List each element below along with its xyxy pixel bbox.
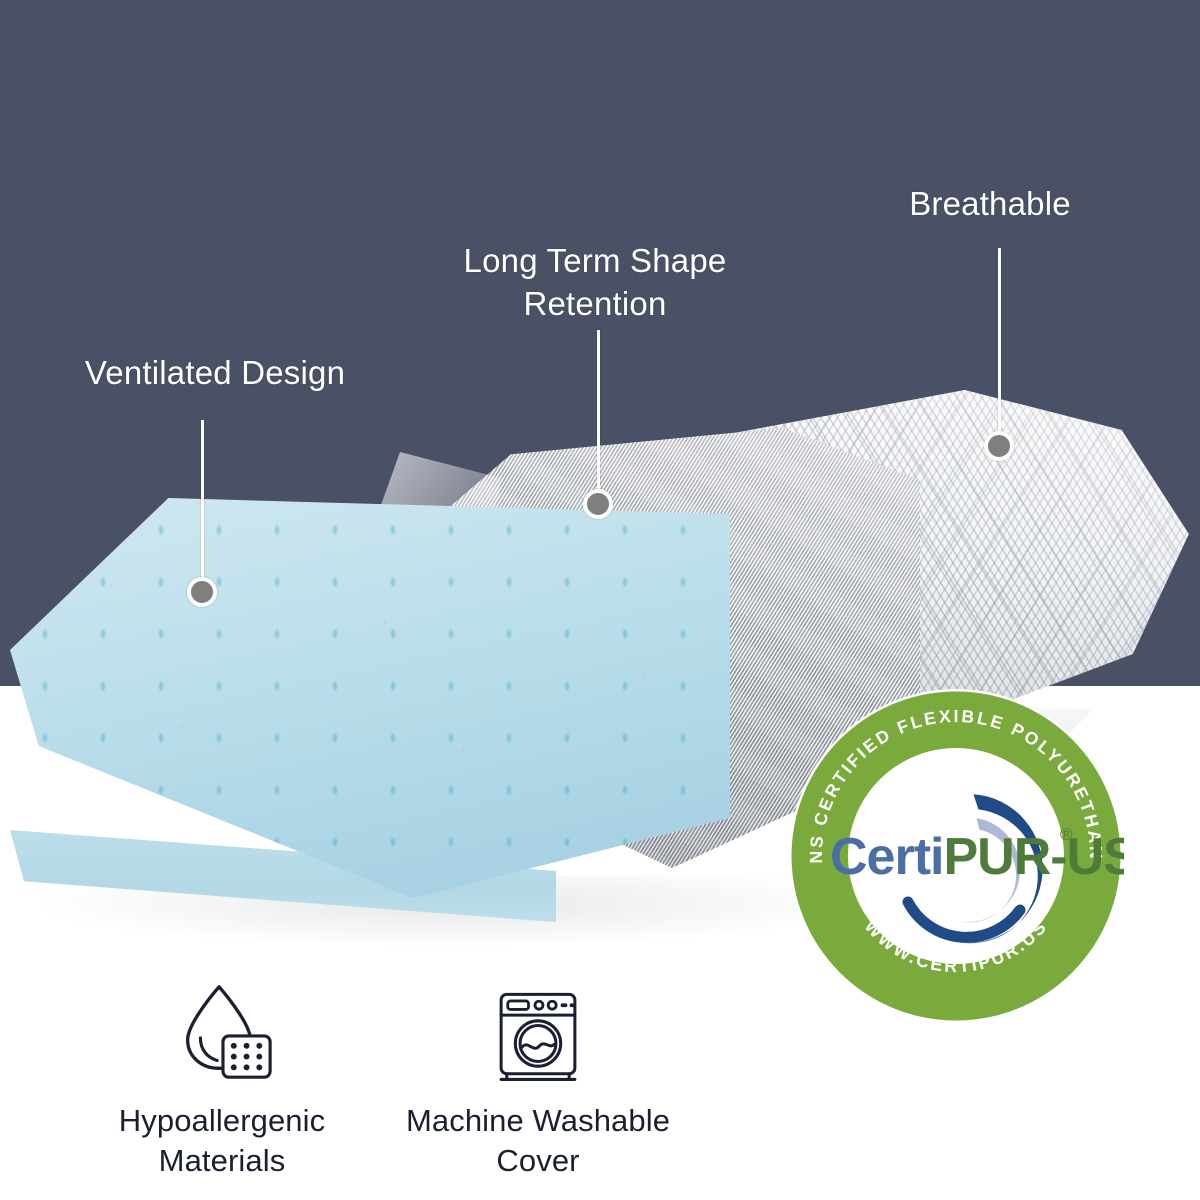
- feature-hypoallergenic-materials: Hypoallergenic Materials: [72, 975, 372, 1180]
- callout-dot-long-term-shape-retention: [583, 489, 613, 519]
- callout-label-breathable: Breathable: [830, 183, 1150, 226]
- gel-foam-speckle: [10, 498, 730, 898]
- washer-control-panel: [508, 1001, 576, 1010]
- callout-leader-line-long-term-shape-retention: [597, 330, 600, 492]
- certipur-us-badge: CONTAINS CERTIFIED FLEXIBLE POLYURETHANE…: [788, 688, 1124, 1024]
- perforated-foam-block: [223, 1036, 270, 1077]
- callout-label-long-term-shape-retention: Long Term Shape Retention: [410, 240, 780, 326]
- feature-label-hypoallergenic-materials: Hypoallergenic Materials: [72, 1101, 372, 1180]
- washer-icon-wrap: [388, 975, 688, 1087]
- callout-dot-breathable: [984, 431, 1014, 461]
- washing-machine-icon: [486, 983, 590, 1087]
- droplet-foam-icon-wrap: [72, 975, 372, 1087]
- infographic-canvas: Ventilated Design Long Term Shape Retent…: [0, 0, 1200, 1200]
- callout-leader-line-ventilated-design: [201, 420, 204, 580]
- certipur-us-seal-icon: CONTAINS CERTIFIED FLEXIBLE POLYURETHANE…: [788, 688, 1124, 1024]
- feature-label-machine-washable-cover: Machine Washable Cover: [388, 1101, 688, 1180]
- feature-machine-washable-cover: Machine Washable Cover: [388, 975, 688, 1180]
- callout-label-ventilated-design: Ventilated Design: [20, 352, 410, 395]
- callout-leader-line-breathable: [998, 248, 1001, 434]
- badge-registered-mark: ®: [1060, 825, 1073, 844]
- callout-dot-ventilated-design: [187, 577, 217, 607]
- badge-wordmark: CertiPUR-US: [830, 828, 1124, 886]
- water-droplet-foam-block-icon: [168, 979, 276, 1087]
